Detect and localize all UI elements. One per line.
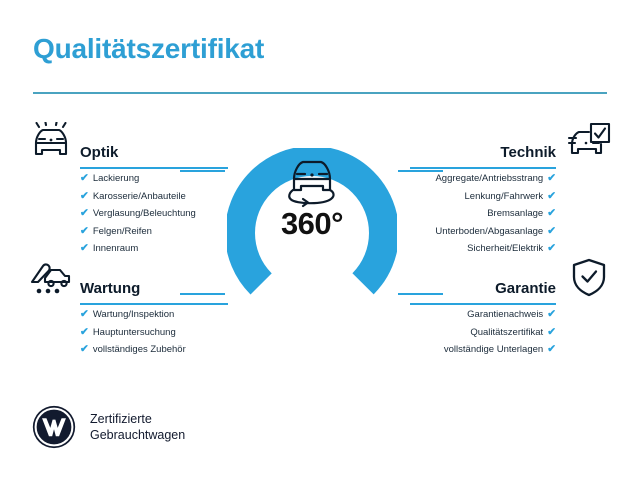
list-item-label: vollständige Unterlagen xyxy=(444,344,543,355)
check-icon: ✔ xyxy=(80,172,89,184)
checklist-optik: ✔Lackierung ✔Karosserie/Anbauteile ✔Verg… xyxy=(28,170,228,258)
section-header-optik: Optik xyxy=(28,122,228,170)
check-icon: ✔ xyxy=(80,326,89,338)
section-title-optik: Optik xyxy=(80,144,118,161)
list-item-label: Unterboden/Abgasanlage xyxy=(435,226,543,237)
section-technik: Technik Aggregate/Antriebsstrang✔ Lenkun… xyxy=(410,122,612,258)
section-garantie: Garantie Garantienachweis✔ Qualitätszert… xyxy=(410,258,612,359)
list-item: ✔Hauptuntersuchung xyxy=(80,324,228,342)
section-title-garantie: Garantie xyxy=(495,280,556,297)
car-lift-wrench-icon xyxy=(28,258,74,302)
section-rule-garantie xyxy=(410,303,556,305)
certificate-page: Qualitätszertifikat Optik xyxy=(0,0,640,480)
footer-line-2: Gebrauchtwagen xyxy=(90,427,185,443)
list-item: ✔Felgen/Reifen xyxy=(80,223,228,241)
list-item: Aggregate/Antriebsstrang✔ xyxy=(410,170,556,188)
section-rule-wartung xyxy=(80,303,228,305)
list-item: Lenkung/Fahrwerk✔ xyxy=(410,188,556,206)
list-item: ✔Verglasung/Beleuchtung xyxy=(80,205,228,223)
check-icon: ✔ xyxy=(80,225,89,237)
check-icon: ✔ xyxy=(547,326,556,338)
check-icon: ✔ xyxy=(547,242,556,254)
shield-check-icon xyxy=(566,258,612,302)
section-rule-optik xyxy=(80,167,228,169)
section-rule-technik xyxy=(410,167,556,169)
footer-line-1: Zertifizierte xyxy=(90,411,185,427)
section-header-garantie: Garantie xyxy=(410,258,612,306)
car-shine-icon xyxy=(28,122,74,166)
section-header-technik: Technik xyxy=(410,122,612,170)
section-optik: Optik ✔Lackierung ✔Karosserie/Anbauteile… xyxy=(28,122,228,258)
car-rotate-icon xyxy=(277,154,347,210)
checklist-wartung: ✔Wartung/Inspektion ✔Hauptuntersuchung ✔… xyxy=(28,306,228,359)
list-item: ✔Lackierung xyxy=(80,170,228,188)
list-item-label: Lackierung xyxy=(93,173,139,184)
list-item-label: Verglasung/Beleuchtung xyxy=(93,208,196,219)
checklist-garantie: Garantienachweis✔ Qualitätszertifikat✔ v… xyxy=(410,306,612,359)
list-item-label: Bremsanlage xyxy=(487,208,543,219)
list-item-label: vollständiges Zubehör xyxy=(93,344,186,355)
check-icon: ✔ xyxy=(547,172,556,184)
list-item-label: Wartung/Inspektion xyxy=(93,309,175,320)
check-icon: ✔ xyxy=(80,242,89,254)
checklist-technik: Aggregate/Antriebsstrang✔ Lenkung/Fahrwe… xyxy=(410,170,612,258)
list-item-label: Aggregate/Antriebsstrang xyxy=(435,173,543,184)
check-icon: ✔ xyxy=(547,207,556,219)
page-title: Qualitätszertifikat xyxy=(33,33,264,65)
list-item: ✔Wartung/Inspektion xyxy=(80,306,228,324)
section-title-technik: Technik xyxy=(500,144,556,161)
check-icon: ✔ xyxy=(80,190,89,202)
list-item-label: Lenkung/Fahrwerk xyxy=(465,191,544,202)
check-icon: ✔ xyxy=(80,207,89,219)
list-item-label: Sicherheit/Elektrik xyxy=(467,243,543,254)
list-item: ✔Innenraum xyxy=(80,240,228,258)
check-icon: ✔ xyxy=(547,190,556,202)
car-checkbox-icon xyxy=(566,122,612,166)
footer-brand-text: Zertifizierte Gebrauchtwagen xyxy=(90,411,185,443)
check-icon: ✔ xyxy=(547,308,556,320)
list-item: Garantienachweis✔ xyxy=(410,306,556,324)
list-item: Unterboden/Abgasanlage✔ xyxy=(410,223,556,241)
badge-center-label: 360° xyxy=(227,206,397,242)
section-wartung: Wartung ✔Wartung/Inspektion ✔Hauptunters… xyxy=(28,258,228,359)
list-item: Bremsanlage✔ xyxy=(410,205,556,223)
check-icon: ✔ xyxy=(547,225,556,237)
list-item-label: Innenraum xyxy=(93,243,138,254)
list-item-label: Felgen/Reifen xyxy=(93,226,152,237)
list-item-label: Karosserie/Anbauteile xyxy=(93,191,186,202)
header-divider xyxy=(33,92,607,94)
badge-360-gebrauchtwagen-check: Gebrauchtwagen-Check 360° xyxy=(227,148,397,318)
list-item: Sicherheit/Elektrik✔ xyxy=(410,240,556,258)
section-title-wartung: Wartung xyxy=(80,280,140,297)
vw-logo xyxy=(31,404,77,450)
section-header-wartung: Wartung xyxy=(28,258,228,306)
list-item-label: Hauptuntersuchung xyxy=(93,327,176,338)
list-item: vollständige Unterlagen✔ xyxy=(410,341,556,359)
list-item: Qualitätszertifikat✔ xyxy=(410,324,556,342)
list-item-label: Qualitätszertifikat xyxy=(470,327,543,338)
list-item-label: Garantienachweis xyxy=(467,309,543,320)
check-icon: ✔ xyxy=(80,308,89,320)
check-icon: ✔ xyxy=(80,343,89,355)
list-item: ✔Karosserie/Anbauteile xyxy=(80,188,228,206)
list-item: ✔vollständiges Zubehör xyxy=(80,341,228,359)
check-icon: ✔ xyxy=(547,343,556,355)
footer-brand: Zertifizierte Gebrauchtwagen xyxy=(31,404,185,450)
